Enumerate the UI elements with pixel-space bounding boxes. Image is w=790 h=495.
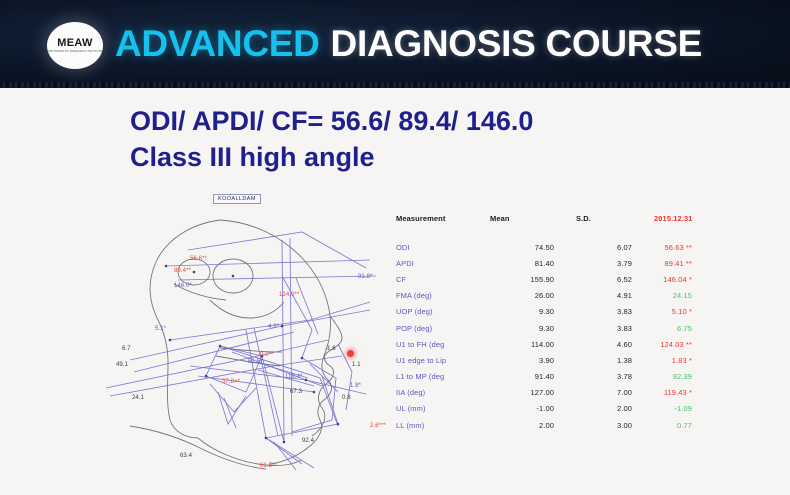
cell-sd: 4.91 <box>576 288 654 304</box>
tracing-annotation: 0.8 <box>342 395 351 401</box>
table-body: ODI74.506.0756.63 **APDI81.403.7989.41 *… <box>396 239 726 433</box>
cell-current-value: 56.63 ** <box>654 239 726 255</box>
header-title-accent: ADVANCED <box>115 23 320 65</box>
patient-name-tag: KOOALLDAM <box>213 194 261 204</box>
cell-measurement-name: APDI <box>396 255 490 271</box>
cephalometric-tracing: KOOALLDAM 56.6**89.4**146.0*91.8*124.0**… <box>70 180 390 490</box>
tracing-annotation: -4.9* <box>266 324 279 330</box>
tracing-drawing <box>70 180 390 490</box>
column-header-mean: Mean <box>490 214 576 239</box>
cell-mean: 9.30 <box>490 304 576 320</box>
cell-mean: 91.40 <box>490 369 576 385</box>
cell-sd: 6.07 <box>576 239 654 255</box>
cell-sd: 3.79 <box>576 255 654 271</box>
cell-current-value: 6.75 <box>654 320 726 336</box>
table-row: IIA (deg)127.007.00119.43 * <box>396 385 726 401</box>
tracing-annotation: 89.4** <box>174 268 191 274</box>
cell-current-value: 24.15 <box>654 288 726 304</box>
table-row: APDI81.403.7989.41 ** <box>396 255 726 271</box>
tracing-annotation: 0.0** <box>260 352 274 358</box>
table-row: CF155.906.52146.04 * <box>396 271 726 287</box>
tracing-annotation: 91.8* <box>358 274 373 280</box>
cell-measurement-name: IIA (deg) <box>396 385 490 401</box>
cell-sd: 3.83 <box>576 320 654 336</box>
cell-sd: 3.00 <box>576 417 654 433</box>
cell-sd: 7.00 <box>576 385 654 401</box>
cell-measurement-name: L1 to MP (deg <box>396 369 490 385</box>
tracing-annotation: 6.7 <box>122 346 131 352</box>
cell-sd: 2.00 <box>576 401 654 417</box>
tracing-annotation: 63.4 <box>180 453 192 459</box>
table-row: U1 to FH (deg114.004.60124.03 ** <box>396 336 726 352</box>
cell-measurement-name: ODI <box>396 239 490 255</box>
cell-mean: 114.00 <box>490 336 576 352</box>
column-header-date: 2015.12.31 <box>654 214 726 239</box>
column-header-sd: S.D. <box>576 214 654 239</box>
cell-current-value: 89.41 ** <box>654 255 726 271</box>
tracing-annotation: 1.1 <box>352 362 361 368</box>
header-title-rest: DIAGNOSIS COURSE <box>331 23 702 65</box>
cell-mean: -1.00 <box>490 401 576 417</box>
tracing-annotation: 24.1 <box>132 395 144 401</box>
tracing-annotation: 52.5* <box>248 359 263 365</box>
cell-measurement-name: U1 to FH (deg <box>396 336 490 352</box>
cell-current-value: 119.43 * <box>654 385 726 401</box>
cell-measurement-name: FMA (deg) <box>396 288 490 304</box>
table-header-row: Measurement Mean S.D. 2015.12.31 <box>396 214 726 239</box>
column-header-measurement: Measurement <box>396 214 490 239</box>
table-row: UOP (deg)9.303.835.10 * <box>396 304 726 320</box>
tracing-annotation: 49.1 <box>116 362 128 368</box>
tracing-annotation: 61.5** <box>260 463 277 469</box>
tracing-annotation: 5.1* <box>155 326 166 332</box>
cell-sd: 4.60 <box>576 336 654 352</box>
cell-mean: 81.40 <box>490 255 576 271</box>
cell-mean: 26.00 <box>490 288 576 304</box>
table-row: UL (mm)-1.002.00-1.09 <box>396 401 726 417</box>
page-title: ODI/ APDI/ CF= 56.6/ 89.4/ 146.0 Class I… <box>130 104 750 175</box>
cell-mean: 3.90 <box>490 352 576 368</box>
cell-measurement-name: U1 edge to Lip <box>396 352 490 368</box>
logo-sub-text: ORTHODONTIC RESEARCH INSTITUTE <box>48 51 103 53</box>
cell-sd: 3.83 <box>576 304 654 320</box>
logo-main-text: MEAW <box>57 38 92 49</box>
cell-sd: 3.78 <box>576 369 654 385</box>
tracing-annotation: 56.6** <box>190 256 207 262</box>
cell-sd: 1.38 <box>576 352 654 368</box>
tracing-annotation: 124.0** <box>279 292 299 298</box>
meaw-logo: MEAW ORTHODONTIC RESEARCH INSTITUTE <box>47 22 103 69</box>
tracing-annotation: 119.4* <box>285 374 303 380</box>
table-row: U1 edge to Lip3.901.381.83 * <box>396 352 726 368</box>
cell-measurement-name: UOP (deg) <box>396 304 490 320</box>
table-row: LL (mm)2.003.000.77 <box>396 417 726 433</box>
tracing-annotation: 146.0* <box>174 283 192 289</box>
cell-mean: 9.30 <box>490 320 576 336</box>
cell-mean: 2.00 <box>490 417 576 433</box>
cell-measurement-name: UL (mm) <box>396 401 490 417</box>
tracing-annotation: 92.4 <box>302 438 314 444</box>
tracing-annotation: 37.8>* <box>222 379 240 385</box>
measurement-table: Measurement Mean S.D. 2015.12.31 ODI74.5… <box>396 214 726 433</box>
cell-current-value: 146.04 * <box>654 271 726 287</box>
cell-sd: 6.52 <box>576 271 654 287</box>
table-row: FMA (deg)26.004.9124.15 <box>396 288 726 304</box>
header-title: ADVANCED DIAGNOSIS COURSE <box>115 18 702 70</box>
page-title-line-2: Class III high angle <box>130 140 750 176</box>
table-row: POP (deg)9.303.836.75 <box>396 320 726 336</box>
cell-measurement-name: CF <box>396 271 490 287</box>
table-row: ODI74.506.0756.63 ** <box>396 239 726 255</box>
tracing-annotation: 2.6*** <box>370 423 386 429</box>
cell-measurement-name: POP (deg) <box>396 320 490 336</box>
cell-current-value: 0.77 <box>654 417 726 433</box>
page-header: MEAW ORTHODONTIC RESEARCH INSTITUTE ADVA… <box>0 0 790 88</box>
page-title-line-1: ODI/ APDI/ CF= 56.6/ 89.4/ 146.0 <box>130 104 750 140</box>
tracing-annotation: 67.3 <box>290 389 302 395</box>
cell-current-value: 1.83 * <box>654 352 726 368</box>
cell-current-value: 5.10 * <box>654 304 726 320</box>
cell-mean: 127.00 <box>490 385 576 401</box>
tracing-annotation: 1.8* <box>350 383 361 389</box>
tracing-annotation: -1.6 <box>325 346 336 352</box>
cell-current-value: 92.39 <box>654 369 726 385</box>
cell-mean: 155.90 <box>490 271 576 287</box>
cell-current-value: -1.09 <box>654 401 726 417</box>
lip-marker-dot <box>347 350 354 357</box>
cell-measurement-name: LL (mm) <box>396 417 490 433</box>
table-row: L1 to MP (deg91.403.7892.39 <box>396 369 726 385</box>
cell-mean: 74.50 <box>490 239 576 255</box>
cell-current-value: 124.03 ** <box>654 336 726 352</box>
